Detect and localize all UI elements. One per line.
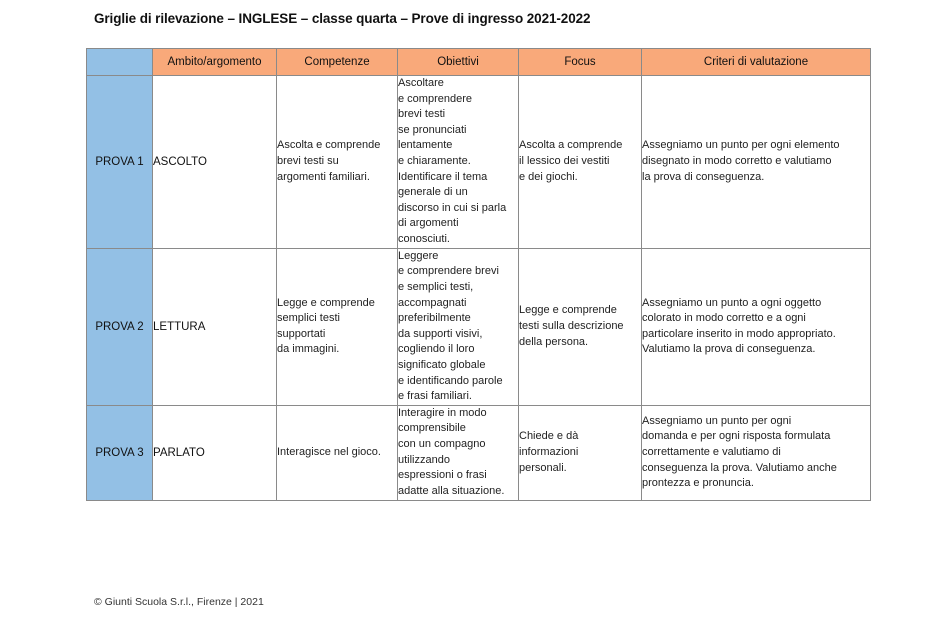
- cell-focus-1: Ascolta a comprende il lessico dei vesti…: [519, 76, 642, 249]
- cell-focus-2: Legge e comprende testi sulla descrizion…: [519, 248, 642, 405]
- row-label-prova-3: PROVA 3: [87, 405, 153, 500]
- page-title: Griglie di rilevazione – INGLESE – class…: [94, 11, 590, 26]
- row-label-prova-2: PROVA 2: [87, 248, 153, 405]
- column-header-focus: Focus: [519, 49, 642, 76]
- column-header-blank: [87, 49, 153, 76]
- cell-criteri-1: Assegniamo un punto per ogni elemento di…: [642, 76, 871, 249]
- cell-obiettivi-1: Ascoltare e comprendere brevi testi se p…: [398, 76, 519, 249]
- column-header-competenze: Competenze: [277, 49, 398, 76]
- cell-focus-3: Chiede e dà informazioni personali.: [519, 405, 642, 500]
- column-header-criteri: Criteri di valutazione: [642, 49, 871, 76]
- copyright-footer: © Giunti Scuola S.r.l., Firenze | 2021: [94, 596, 264, 608]
- cell-ambito-1: ASCOLTO: [153, 76, 277, 249]
- table-row: PROVA 2 LETTURA Legge e comprende sempli…: [87, 248, 871, 405]
- cell-competenze-1: Ascolta e comprende brevi testi su argom…: [277, 76, 398, 249]
- cell-obiettivi-2: Leggere e comprendere brevi e semplici t…: [398, 248, 519, 405]
- table-header-row: Ambito/argomento Competenze Obiettivi Fo…: [87, 49, 871, 76]
- cell-obiettivi-3: Interagire in modo comprensibile con un …: [398, 405, 519, 500]
- cell-criteri-3: Assegniamo un punto per ogni domanda e p…: [642, 405, 871, 500]
- cell-ambito-3: PARLATO: [153, 405, 277, 500]
- cell-criteri-2: Assegniamo un punto a ogni oggetto color…: [642, 248, 871, 405]
- table-row: PROVA 1 ASCOLTO Ascolta e comprende brev…: [87, 76, 871, 249]
- row-label-prova-1: PROVA 1: [87, 76, 153, 249]
- table-row: PROVA 3 PARLATO Interagisce nel gioco. I…: [87, 405, 871, 500]
- cell-competenze-3: Interagisce nel gioco.: [277, 405, 398, 500]
- cell-competenze-2: Legge e comprende semplici testi support…: [277, 248, 398, 405]
- column-header-obiettivi: Obiettivi: [398, 49, 519, 76]
- column-header-ambito: Ambito/argomento: [153, 49, 277, 76]
- cell-ambito-2: LETTURA: [153, 248, 277, 405]
- assessment-grid-table: Ambito/argomento Competenze Obiettivi Fo…: [86, 48, 871, 501]
